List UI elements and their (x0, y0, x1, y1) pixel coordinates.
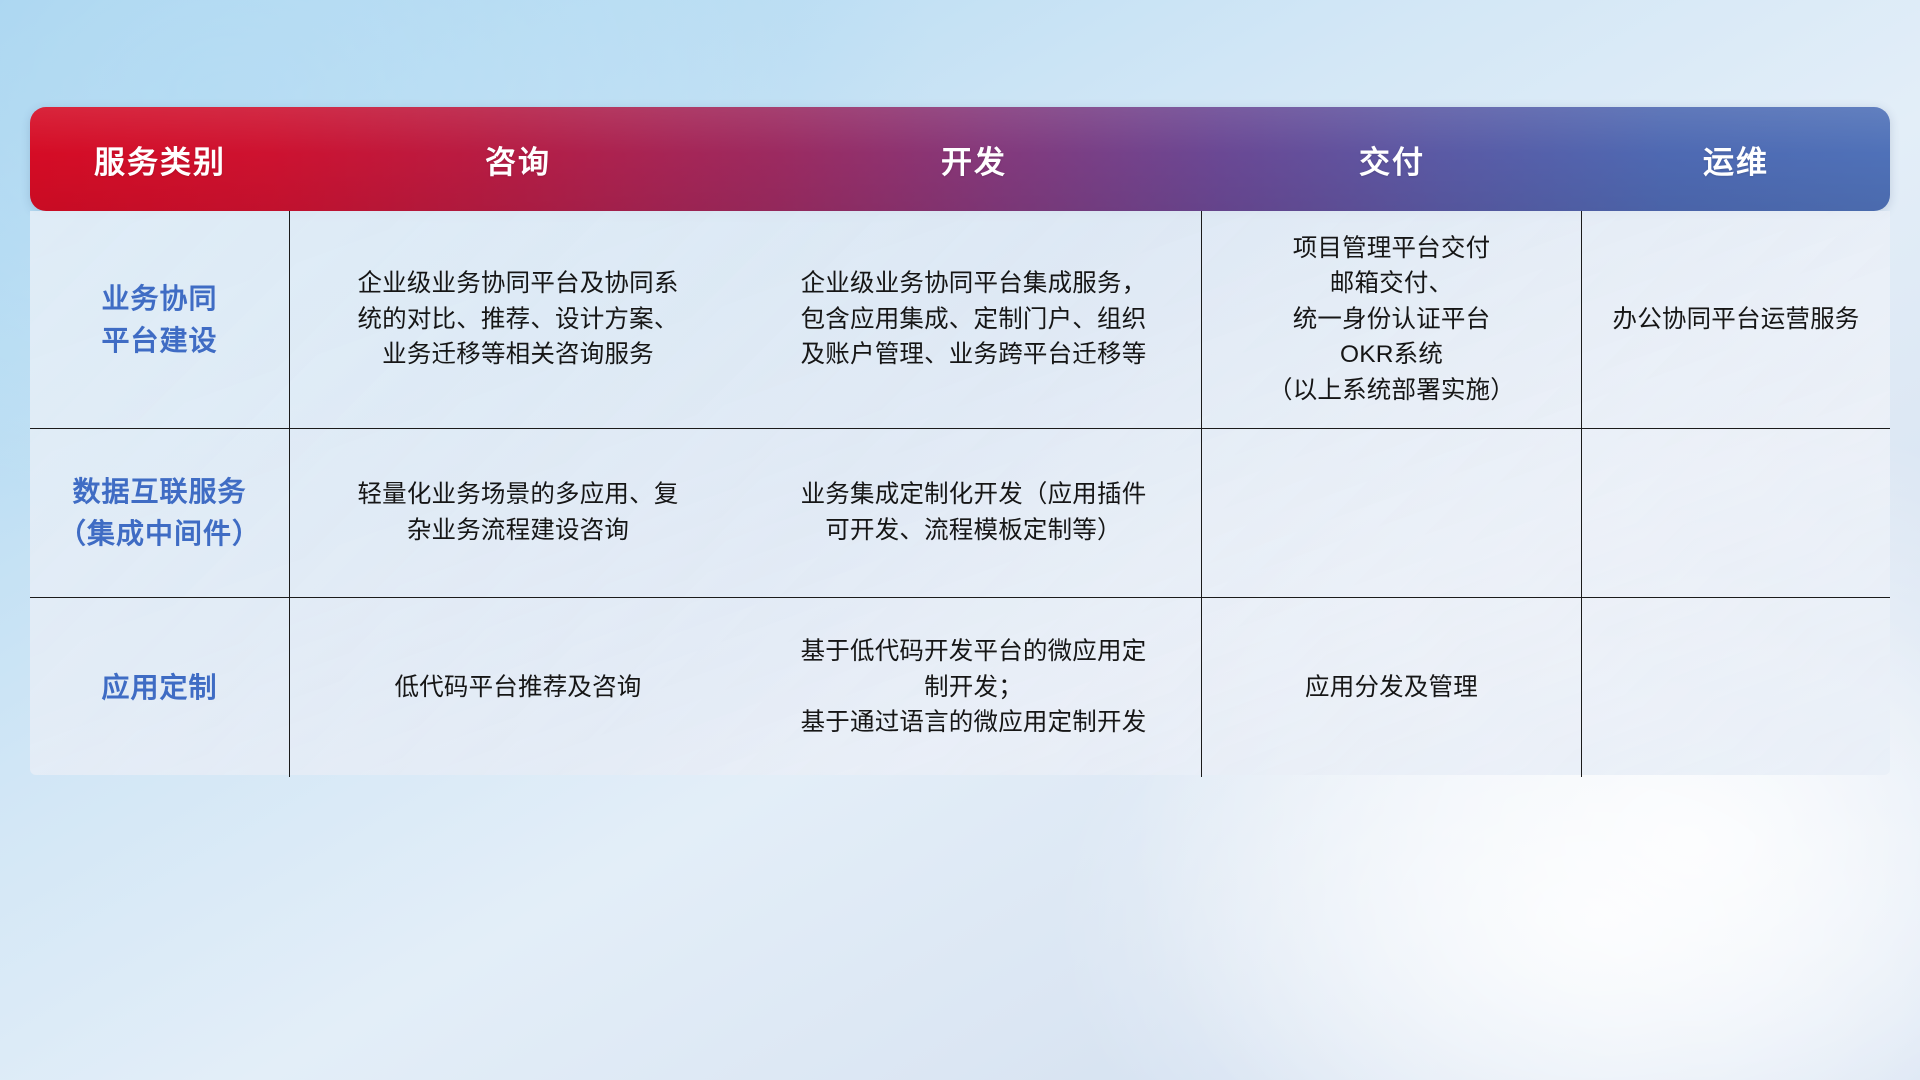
cell-text: 办公协同平台运营服务 (1613, 302, 1860, 338)
header-cell-development: 开发 (746, 107, 1202, 211)
table-row: 应用定制 低代码平台推荐及咨询 基于低代码开发平台的微应用定 制开发； 基于通过… (30, 597, 1890, 777)
header-cell-operations: 运维 (1582, 107, 1890, 211)
cell-delivery: 项目管理平台交付 邮箱交付、 统一身份认证平台 OKR系统 （以上系统部署实施） (1202, 211, 1582, 428)
cell-consulting: 低代码平台推荐及咨询 (290, 598, 746, 777)
service-matrix-table: 服务类别 咨询 开发 交付 运维 业务协同 平台建设 企业级业务协同平台及协同系… (30, 107, 1890, 775)
row-label-text: 业务协同 平台建设 (101, 278, 217, 362)
table-header-row: 服务类别 咨询 开发 交付 运维 (30, 107, 1890, 211)
cell-development: 基于低代码开发平台的微应用定 制开发； 基于通过语言的微应用定制开发 (746, 598, 1202, 777)
cell-operations (1582, 429, 1890, 597)
cell-consulting: 企业级业务协同平台及协同系 统的对比、推荐、设计方案、 业务迁移等相关咨询服务 (290, 211, 746, 428)
cell-operations: 办公协同平台运营服务 (1582, 211, 1890, 428)
cell-text: 业务集成定制化开发（应用插件 可开发、流程模板定制等） (801, 477, 1147, 548)
cell-text: 基于低代码开发平台的微应用定 制开发； 基于通过语言的微应用定制开发 (801, 634, 1147, 741)
cell-operations (1582, 598, 1890, 777)
row-label-cell: 应用定制 (30, 598, 290, 777)
header-cell-consulting: 咨询 (290, 107, 746, 211)
header-cell-service-category: 服务类别 (30, 107, 290, 211)
cell-text: 企业级业务协同平台及协同系 统的对比、推荐、设计方案、 业务迁移等相关咨询服务 (357, 266, 678, 373)
cell-text: 企业级业务协同平台集成服务， 包含应用集成、定制门户、组织 及账户管理、业务跨平… (801, 266, 1147, 373)
row-label-text: 应用定制 (101, 667, 217, 709)
cell-development: 业务集成定制化开发（应用插件 可开发、流程模板定制等） (746, 429, 1202, 597)
row-label-cell: 数据互联服务 （集成中间件） (30, 429, 290, 597)
cell-text: 应用分发及管理 (1305, 670, 1478, 706)
cell-text: 轻量化业务场景的多应用、复 杂业务流程建设咨询 (357, 477, 678, 548)
header-cell-delivery: 交付 (1202, 107, 1582, 211)
cell-delivery: 应用分发及管理 (1202, 598, 1582, 777)
table-body: 业务协同 平台建设 企业级业务协同平台及协同系 统的对比、推荐、设计方案、 业务… (30, 211, 1890, 775)
row-label-cell: 业务协同 平台建设 (30, 211, 290, 428)
cell-text: 项目管理平台交付 邮箱交付、 统一身份认证平台 OKR系统 （以上系统部署实施） (1268, 231, 1515, 409)
cell-consulting: 轻量化业务场景的多应用、复 杂业务流程建设咨询 (290, 429, 746, 597)
table-row: 业务协同 平台建设 企业级业务协同平台及协同系 统的对比、推荐、设计方案、 业务… (30, 211, 1890, 428)
cell-delivery (1202, 429, 1582, 597)
row-label-text: 数据互联服务 （集成中间件） (58, 471, 261, 555)
table-row: 数据互联服务 （集成中间件） 轻量化业务场景的多应用、复 杂业务流程建设咨询 业… (30, 428, 1890, 597)
cell-development: 企业级业务协同平台集成服务， 包含应用集成、定制门户、组织 及账户管理、业务跨平… (746, 211, 1202, 428)
cell-text: 低代码平台推荐及咨询 (395, 670, 642, 706)
